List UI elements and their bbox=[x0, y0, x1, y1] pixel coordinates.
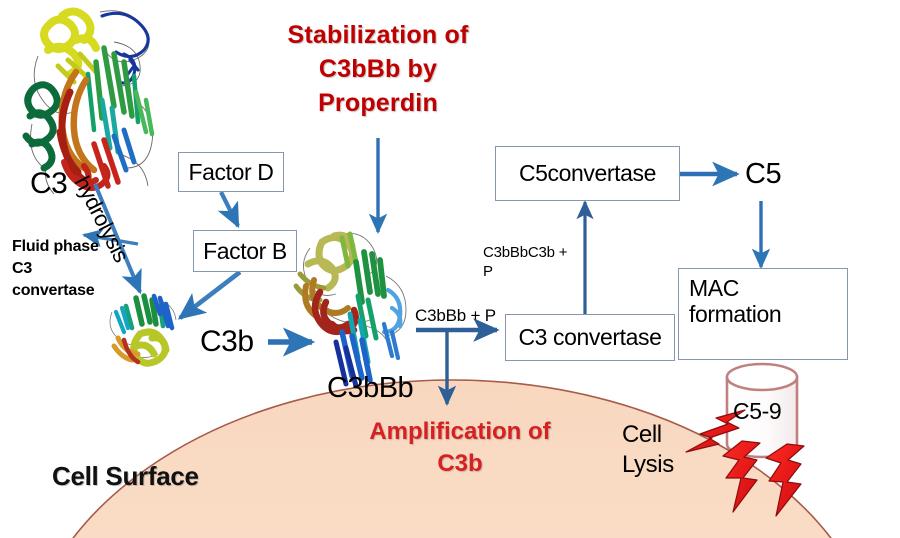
box-factor-d[interactable]: Factor D bbox=[178, 152, 284, 192]
c3bbb-ribbon-structure bbox=[296, 233, 406, 386]
box-c5-convertase[interactable]: C5convertase bbox=[495, 146, 680, 201]
label-c3b: C3b bbox=[200, 325, 254, 359]
title-line-2: C3bBb by bbox=[265, 52, 491, 86]
page-title: Stabilization of C3bBb by Properdin bbox=[265, 18, 491, 120]
box-mac-formation[interactable]: MAC formation bbox=[678, 268, 848, 360]
amplification-line-1: Amplification of bbox=[350, 416, 570, 448]
edge-label-c3bbb-plus-p: C3bBb + P bbox=[415, 306, 496, 325]
c3b-ribbon-structure bbox=[110, 296, 176, 363]
box-factor-d-label: Factor D bbox=[189, 159, 274, 186]
box-factor-b[interactable]: Factor B bbox=[193, 230, 297, 272]
box-c3-convertase-label: C3 convertase bbox=[518, 324, 661, 351]
label-fluid-phase-c3-convertase: Fluid phase C3 convertase bbox=[12, 236, 132, 302]
title-line-1: Stabilization of bbox=[265, 18, 491, 52]
label-c3bbb: C3bBb bbox=[327, 372, 413, 405]
box-mac-formation-label: MAC formation bbox=[689, 275, 781, 327]
arrow-factorb-to-c3b bbox=[180, 272, 240, 318]
box-factor-b-label: Factor B bbox=[203, 238, 287, 265]
edge-label-c3bbbc3b-plus-p: C3bBbC3b + P bbox=[483, 243, 573, 281]
box-c5-convertase-label: C5convertase bbox=[519, 160, 656, 187]
label-c5: C5 bbox=[745, 158, 781, 191]
complement-alternative-pathway-diagram: Stabilization of C3bBb by Properdin C3 h… bbox=[0, 0, 900, 538]
label-c3: C3 bbox=[30, 167, 67, 201]
label-amplification-of-c3b: Amplification of C3b bbox=[350, 416, 570, 480]
label-cell-surface: Cell Surface bbox=[52, 461, 199, 492]
label-c5-9: C5-9 bbox=[733, 398, 781, 425]
label-cell-lysis: Cell Lysis bbox=[622, 420, 674, 480]
arrow-factord-to-factorb bbox=[221, 192, 238, 226]
amplification-line-2: C3b bbox=[350, 448, 570, 480]
box-c3-convertase[interactable]: C3 convertase bbox=[505, 314, 675, 361]
title-line-3: Properdin bbox=[265, 86, 491, 120]
